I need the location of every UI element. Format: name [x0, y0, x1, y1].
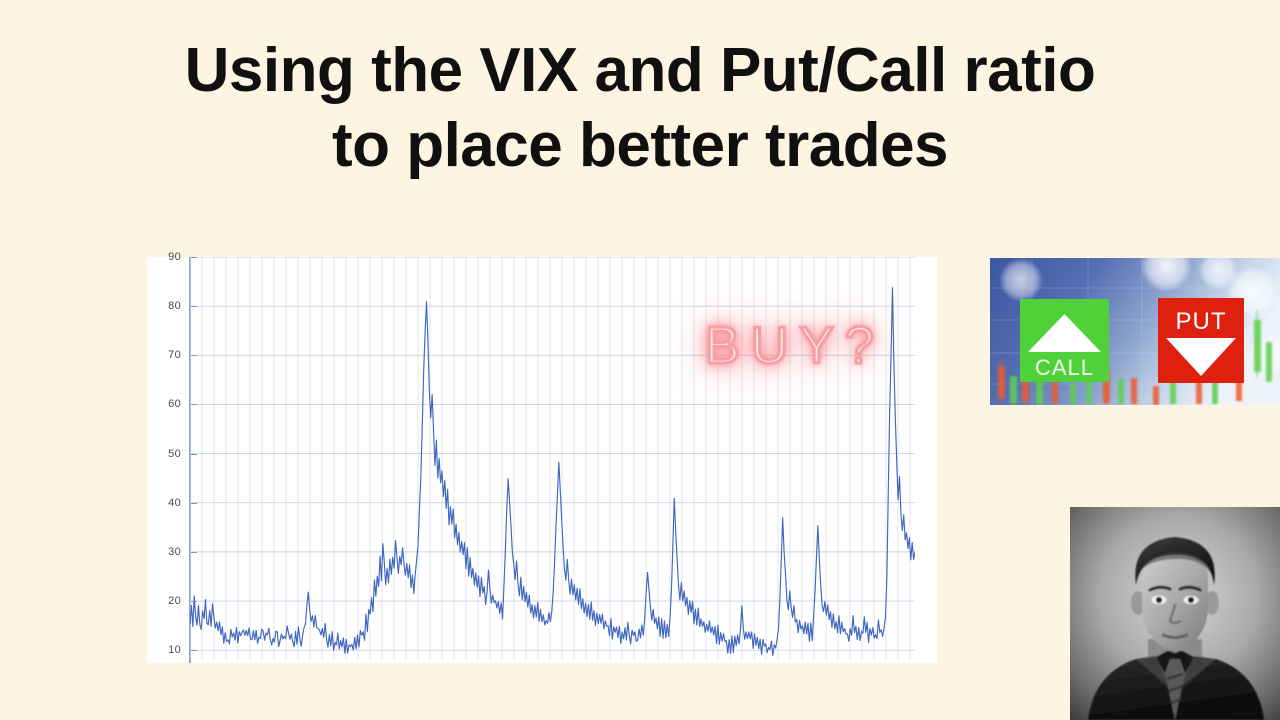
put-box: PUT	[1158, 298, 1244, 383]
title-line-2: to place better trades	[0, 113, 1280, 178]
presenter-portrait	[1070, 507, 1280, 720]
horizontal-gridlines	[190, 257, 915, 650]
vertical-gridlines	[190, 257, 910, 660]
y-axis: 102030405060708090	[147, 257, 185, 663]
vix-line-plot	[190, 257, 915, 660]
y-axis-tick-label: 80	[168, 300, 181, 312]
y-axis-tick-label: 30	[168, 546, 181, 558]
put-call-graphic: CALL PUT	[990, 258, 1280, 405]
y-axis-tick-label: 20	[168, 595, 181, 607]
vix-series-line	[190, 288, 915, 656]
page-title: Using the VIX and Put/Call ratio to plac…	[0, 38, 1280, 178]
y-axis-tickmark	[191, 404, 197, 405]
call-label: CALL	[1035, 355, 1094, 380]
y-axis-tickmark	[191, 503, 197, 504]
y-axis-tick-label: 70	[168, 349, 181, 361]
y-axis-tickmark	[191, 552, 197, 553]
vix-chart: 102030405060708090	[147, 257, 937, 663]
portrait-svg	[1070, 507, 1280, 720]
y-axis-tick-label: 40	[168, 497, 181, 509]
y-axis-tick-label: 60	[168, 398, 181, 410]
put-call-svg: CALL PUT	[990, 258, 1280, 405]
plot-area	[190, 257, 915, 660]
y-axis-tickmark	[191, 306, 197, 307]
title-line-1: Using the VIX and Put/Call ratio	[0, 38, 1280, 103]
slide-canvas: Using the VIX and Put/Call ratio to plac…	[0, 0, 1280, 720]
y-axis-tick-label: 10	[168, 644, 181, 656]
y-axis-tickmark	[191, 257, 197, 258]
y-axis-tickmark	[191, 454, 197, 455]
y-axis-tickmark	[191, 355, 197, 356]
y-axis-tick-label: 90	[168, 251, 181, 263]
put-label: PUT	[1176, 308, 1227, 335]
y-axis-tick-label: 50	[168, 448, 181, 460]
chart-inner: 102030405060708090	[147, 257, 937, 663]
call-box: CALL	[1020, 299, 1109, 382]
y-axis-tickmark	[191, 650, 197, 651]
y-axis-tickmark	[191, 601, 197, 602]
